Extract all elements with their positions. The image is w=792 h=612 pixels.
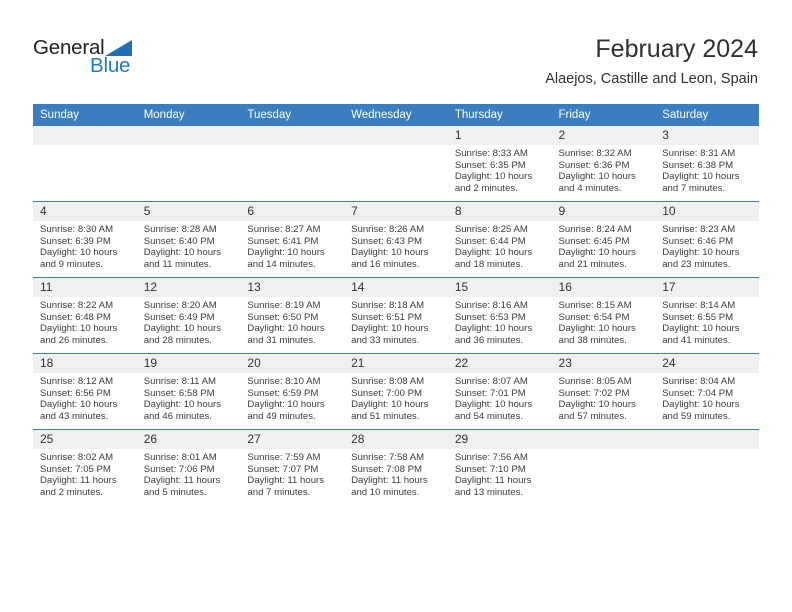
sunrise-text: Sunrise: 8:18 AM [351, 300, 442, 312]
daylight-text-line1: Daylight: 11 hours [455, 475, 546, 487]
day-number: 5 [137, 202, 241, 221]
day-number: 10 [655, 202, 759, 221]
daylight-text-line2: and 41 minutes. [662, 335, 753, 347]
sunrise-text: Sunrise: 8:07 AM [455, 376, 546, 388]
day-details: Sunrise: 8:24 AMSunset: 6:45 PMDaylight:… [552, 221, 656, 271]
sunrise-text: Sunrise: 8:16 AM [455, 300, 546, 312]
sunset-text: Sunset: 6:49 PM [144, 312, 235, 324]
daylight-text-line2: and 7 minutes. [662, 183, 753, 195]
daylight-text-line1: Daylight: 11 hours [40, 475, 131, 487]
daylight-text-line2: and 9 minutes. [40, 259, 131, 271]
calendar-day-cell[interactable]: 16Sunrise: 8:15 AMSunset: 6:54 PMDayligh… [552, 278, 656, 354]
calendar-day-cell[interactable]: 24Sunrise: 8:04 AMSunset: 7:04 PMDayligh… [655, 354, 759, 430]
day-number: 28 [344, 430, 448, 449]
calendar-day-cell[interactable]: 18Sunrise: 8:12 AMSunset: 6:56 PMDayligh… [33, 354, 137, 430]
sunset-text: Sunset: 7:05 PM [40, 464, 131, 476]
calendar-week-row: 18Sunrise: 8:12 AMSunset: 6:56 PMDayligh… [33, 354, 759, 430]
day-number [552, 430, 656, 449]
sunrise-text: Sunrise: 8:15 AM [559, 300, 650, 312]
calendar-day-cell[interactable]: 2Sunrise: 8:32 AMSunset: 6:36 PMDaylight… [552, 126, 656, 202]
daylight-text-line1: Daylight: 10 hours [247, 323, 338, 335]
sunrise-text: Sunrise: 8:08 AM [351, 376, 442, 388]
daylight-text-line2: and 43 minutes. [40, 411, 131, 423]
sunrise-text: Sunrise: 8:31 AM [662, 148, 753, 160]
day-number: 13 [240, 278, 344, 297]
daylight-text-line2: and 51 minutes. [351, 411, 442, 423]
calendar-day-cell[interactable]: 25Sunrise: 8:02 AMSunset: 7:05 PMDayligh… [33, 430, 137, 506]
daylight-text-line2: and 14 minutes. [247, 259, 338, 271]
sunset-text: Sunset: 7:00 PM [351, 388, 442, 400]
calendar-day-cell[interactable]: 23Sunrise: 8:05 AMSunset: 7:02 PMDayligh… [552, 354, 656, 430]
logo-text-blue: Blue [90, 54, 130, 78]
day-number: 19 [137, 354, 241, 373]
calendar-day-cell[interactable]: 3Sunrise: 8:31 AMSunset: 6:38 PMDaylight… [655, 126, 759, 202]
day-details: Sunrise: 8:20 AMSunset: 6:49 PMDaylight:… [137, 297, 241, 347]
calendar-day-cell[interactable] [344, 126, 448, 202]
daylight-text-line2: and 57 minutes. [559, 411, 650, 423]
weekday-header-monday: Monday [137, 104, 241, 126]
day-details: Sunrise: 8:15 AMSunset: 6:54 PMDaylight:… [552, 297, 656, 347]
calendar-day-cell[interactable]: 9Sunrise: 8:24 AMSunset: 6:45 PMDaylight… [552, 202, 656, 278]
day-details: Sunrise: 8:11 AMSunset: 6:58 PMDaylight:… [137, 373, 241, 423]
sunrise-text: Sunrise: 8:32 AM [559, 148, 650, 160]
day-number: 21 [344, 354, 448, 373]
calendar-day-cell[interactable]: 6Sunrise: 8:27 AMSunset: 6:41 PMDaylight… [240, 202, 344, 278]
day-number [33, 126, 137, 145]
sunrise-text: Sunrise: 8:14 AM [662, 300, 753, 312]
day-details: Sunrise: 8:18 AMSunset: 6:51 PMDaylight:… [344, 297, 448, 347]
sunset-text: Sunset: 6:46 PM [662, 236, 753, 248]
daylight-text-line2: and 11 minutes. [144, 259, 235, 271]
daylight-text-line1: Daylight: 10 hours [559, 171, 650, 183]
sunrise-text: Sunrise: 8:04 AM [662, 376, 753, 388]
day-number: 2 [552, 126, 656, 145]
general-blue-logo[interactable]: General Blue [33, 36, 173, 82]
day-details [552, 449, 656, 452]
calendar-day-cell[interactable]: 29Sunrise: 7:56 AMSunset: 7:10 PMDayligh… [448, 430, 552, 506]
daylight-text-line1: Daylight: 10 hours [559, 247, 650, 259]
sunrise-text: Sunrise: 8:05 AM [559, 376, 650, 388]
sunrise-text: Sunrise: 8:23 AM [662, 224, 753, 236]
day-number: 7 [344, 202, 448, 221]
calendar-body: 1Sunrise: 8:33 AMSunset: 6:35 PMDaylight… [33, 126, 759, 505]
calendar-week-row: 4Sunrise: 8:30 AMSunset: 6:39 PMDaylight… [33, 202, 759, 278]
calendar-day-cell[interactable]: 7Sunrise: 8:26 AMSunset: 6:43 PMDaylight… [344, 202, 448, 278]
sunset-text: Sunset: 7:06 PM [144, 464, 235, 476]
day-details: Sunrise: 8:14 AMSunset: 6:55 PMDaylight:… [655, 297, 759, 347]
daylight-text-line1: Daylight: 10 hours [144, 247, 235, 259]
daylight-text-line1: Daylight: 10 hours [559, 399, 650, 411]
sunrise-text: Sunrise: 7:58 AM [351, 452, 442, 464]
daylight-text-line1: Daylight: 11 hours [351, 475, 442, 487]
calendar-page: General Blue February 2024 Alaejos, Cast… [0, 0, 792, 612]
day-details [655, 449, 759, 452]
day-details: Sunrise: 8:16 AMSunset: 6:53 PMDaylight:… [448, 297, 552, 347]
calendar-day-cell[interactable]: 15Sunrise: 8:16 AMSunset: 6:53 PMDayligh… [448, 278, 552, 354]
calendar-day-cell[interactable]: 14Sunrise: 8:18 AMSunset: 6:51 PMDayligh… [344, 278, 448, 354]
calendar-day-cell[interactable]: 17Sunrise: 8:14 AMSunset: 6:55 PMDayligh… [655, 278, 759, 354]
daylight-text-line1: Daylight: 10 hours [455, 171, 546, 183]
day-number: 25 [33, 430, 137, 449]
daylight-text-line1: Daylight: 10 hours [662, 399, 753, 411]
daylight-text-line1: Daylight: 11 hours [247, 475, 338, 487]
daylight-text-line2: and 23 minutes. [662, 259, 753, 271]
sunrise-text: Sunrise: 8:11 AM [144, 376, 235, 388]
sunrise-text: Sunrise: 8:26 AM [351, 224, 442, 236]
daylight-text-line2: and 10 minutes. [351, 487, 442, 499]
day-number [344, 126, 448, 145]
daylight-text-line2: and 28 minutes. [144, 335, 235, 347]
day-details: Sunrise: 8:07 AMSunset: 7:01 PMDaylight:… [448, 373, 552, 423]
sunset-text: Sunset: 6:41 PM [247, 236, 338, 248]
daylight-text-line2: and 26 minutes. [40, 335, 131, 347]
day-details [33, 145, 137, 148]
day-details: Sunrise: 8:19 AMSunset: 6:50 PMDaylight:… [240, 297, 344, 347]
day-details: Sunrise: 8:33 AMSunset: 6:35 PMDaylight:… [448, 145, 552, 195]
daylight-text-line2: and 5 minutes. [144, 487, 235, 499]
sunrise-text: Sunrise: 8:30 AM [40, 224, 131, 236]
daylight-text-line1: Daylight: 10 hours [40, 323, 131, 335]
sunrise-text: Sunrise: 7:59 AM [247, 452, 338, 464]
calendar-day-cell[interactable] [137, 126, 241, 202]
calendar-day-cell[interactable]: 5Sunrise: 8:28 AMSunset: 6:40 PMDaylight… [137, 202, 241, 278]
day-number: 23 [552, 354, 656, 373]
calendar-day-cell[interactable]: 10Sunrise: 8:23 AMSunset: 6:46 PMDayligh… [655, 202, 759, 278]
calendar-day-cell[interactable]: 12Sunrise: 8:20 AMSunset: 6:49 PMDayligh… [137, 278, 241, 354]
daylight-text-line1: Daylight: 10 hours [559, 323, 650, 335]
weekday-header-sunday: Sunday [33, 104, 137, 126]
sunrise-text: Sunrise: 8:25 AM [455, 224, 546, 236]
calendar-day-cell[interactable]: 26Sunrise: 8:01 AMSunset: 7:06 PMDayligh… [137, 430, 241, 506]
sunrise-text: Sunrise: 8:10 AM [247, 376, 338, 388]
calendar-day-cell[interactable]: 27Sunrise: 7:59 AMSunset: 7:07 PMDayligh… [240, 430, 344, 506]
daylight-text-line1: Daylight: 10 hours [351, 399, 442, 411]
daylight-text-line1: Daylight: 10 hours [40, 399, 131, 411]
daylight-text-line1: Daylight: 10 hours [351, 247, 442, 259]
daylight-text-line2: and 59 minutes. [662, 411, 753, 423]
weekday-header-tuesday: Tuesday [240, 104, 344, 126]
day-number [240, 126, 344, 145]
calendar-week-row: 1Sunrise: 8:33 AMSunset: 6:35 PMDaylight… [33, 126, 759, 202]
day-details: Sunrise: 8:25 AMSunset: 6:44 PMDaylight:… [448, 221, 552, 271]
title-block: February 2024 Alaejos, Castille and Leon… [545, 34, 758, 89]
sunset-text: Sunset: 7:10 PM [455, 464, 546, 476]
sunset-text: Sunset: 6:38 PM [662, 160, 753, 172]
calendar-day-cell[interactable]: 4Sunrise: 8:30 AMSunset: 6:39 PMDaylight… [33, 202, 137, 278]
sunset-text: Sunset: 7:02 PM [559, 388, 650, 400]
day-details: Sunrise: 8:02 AMSunset: 7:05 PMDaylight:… [33, 449, 137, 499]
calendar-table: Sunday Monday Tuesday Wednesday Thursday… [33, 104, 759, 505]
day-details: Sunrise: 8:23 AMSunset: 6:46 PMDaylight:… [655, 221, 759, 271]
daylight-text-line2: and 2 minutes. [455, 183, 546, 195]
daylight-text-line2: and 38 minutes. [559, 335, 650, 347]
day-details: Sunrise: 7:59 AMSunset: 7:07 PMDaylight:… [240, 449, 344, 499]
calendar-week-row: 11Sunrise: 8:22 AMSunset: 6:48 PMDayligh… [33, 278, 759, 354]
daylight-text-line2: and 33 minutes. [351, 335, 442, 347]
day-details: Sunrise: 8:26 AMSunset: 6:43 PMDaylight:… [344, 221, 448, 271]
calendar-day-cell[interactable]: 22Sunrise: 8:07 AMSunset: 7:01 PMDayligh… [448, 354, 552, 430]
daylight-text-line1: Daylight: 10 hours [662, 247, 753, 259]
day-number [655, 430, 759, 449]
sunset-text: Sunset: 7:04 PM [662, 388, 753, 400]
sunrise-text: Sunrise: 8:28 AM [144, 224, 235, 236]
sunrise-text: Sunrise: 8:24 AM [559, 224, 650, 236]
calendar-day-cell[interactable] [33, 126, 137, 202]
weekday-header-wednesday: Wednesday [344, 104, 448, 126]
daylight-text-line2: and 18 minutes. [455, 259, 546, 271]
day-number: 22 [448, 354, 552, 373]
calendar-header-row: Sunday Monday Tuesday Wednesday Thursday… [33, 104, 759, 126]
sunrise-text: Sunrise: 7:56 AM [455, 452, 546, 464]
daylight-text-line2: and 7 minutes. [247, 487, 338, 499]
daylight-text-line2: and 21 minutes. [559, 259, 650, 271]
day-number: 15 [448, 278, 552, 297]
sunset-text: Sunset: 6:58 PM [144, 388, 235, 400]
day-details: Sunrise: 8:05 AMSunset: 7:02 PMDaylight:… [552, 373, 656, 423]
sunset-text: Sunset: 6:40 PM [144, 236, 235, 248]
daylight-text-line1: Daylight: 10 hours [144, 399, 235, 411]
day-number: 24 [655, 354, 759, 373]
day-details: Sunrise: 8:04 AMSunset: 7:04 PMDaylight:… [655, 373, 759, 423]
day-details: Sunrise: 7:56 AMSunset: 7:10 PMDaylight:… [448, 449, 552, 499]
sunrise-text: Sunrise: 8:27 AM [247, 224, 338, 236]
sunset-text: Sunset: 6:36 PM [559, 160, 650, 172]
sunset-text: Sunset: 6:44 PM [455, 236, 546, 248]
day-details: Sunrise: 8:32 AMSunset: 6:36 PMDaylight:… [552, 145, 656, 195]
day-number: 12 [137, 278, 241, 297]
calendar-day-cell[interactable] [655, 430, 759, 506]
day-details [344, 145, 448, 148]
sunset-text: Sunset: 6:54 PM [559, 312, 650, 324]
day-number: 16 [552, 278, 656, 297]
weekday-header-saturday: Saturday [655, 104, 759, 126]
day-details: Sunrise: 8:27 AMSunset: 6:41 PMDaylight:… [240, 221, 344, 271]
day-details: Sunrise: 7:58 AMSunset: 7:08 PMDaylight:… [344, 449, 448, 499]
day-number: 29 [448, 430, 552, 449]
sunset-text: Sunset: 6:45 PM [559, 236, 650, 248]
day-number [137, 126, 241, 145]
calendar-day-cell[interactable]: 1Sunrise: 8:33 AMSunset: 6:35 PMDaylight… [448, 126, 552, 202]
day-details: Sunrise: 8:22 AMSunset: 6:48 PMDaylight:… [33, 297, 137, 347]
calendar-day-cell[interactable]: 20Sunrise: 8:10 AMSunset: 6:59 PMDayligh… [240, 354, 344, 430]
daylight-text-line1: Daylight: 10 hours [455, 399, 546, 411]
sunset-text: Sunset: 6:43 PM [351, 236, 442, 248]
daylight-text-line1: Daylight: 10 hours [351, 323, 442, 335]
sunrise-text: Sunrise: 8:20 AM [144, 300, 235, 312]
sunrise-text: Sunrise: 8:22 AM [40, 300, 131, 312]
daylight-text-line1: Daylight: 10 hours [247, 399, 338, 411]
calendar-day-cell[interactable]: 19Sunrise: 8:11 AMSunset: 6:58 PMDayligh… [137, 354, 241, 430]
sunrise-text: Sunrise: 8:01 AM [144, 452, 235, 464]
page-title: February 2024 [545, 34, 758, 64]
sunset-text: Sunset: 6:53 PM [455, 312, 546, 324]
day-details: Sunrise: 8:08 AMSunset: 7:00 PMDaylight:… [344, 373, 448, 423]
calendar-day-cell[interactable]: 21Sunrise: 8:08 AMSunset: 7:00 PMDayligh… [344, 354, 448, 430]
page-subtitle-location: Alaejos, Castille and Leon, Spain [545, 69, 758, 89]
sunset-text: Sunset: 6:39 PM [40, 236, 131, 248]
day-number: 4 [33, 202, 137, 221]
sunset-text: Sunset: 7:01 PM [455, 388, 546, 400]
day-number: 1 [448, 126, 552, 145]
calendar-day-cell[interactable]: 11Sunrise: 8:22 AMSunset: 6:48 PMDayligh… [33, 278, 137, 354]
day-details [137, 145, 241, 148]
daylight-text-line2: and 31 minutes. [247, 335, 338, 347]
day-number: 17 [655, 278, 759, 297]
day-details: Sunrise: 8:10 AMSunset: 6:59 PMDaylight:… [240, 373, 344, 423]
daylight-text-line1: Daylight: 10 hours [455, 247, 546, 259]
daylight-text-line2: and 36 minutes. [455, 335, 546, 347]
day-number: 3 [655, 126, 759, 145]
day-number: 6 [240, 202, 344, 221]
daylight-text-line1: Daylight: 11 hours [144, 475, 235, 487]
day-details: Sunrise: 8:12 AMSunset: 6:56 PMDaylight:… [33, 373, 137, 423]
day-details: Sunrise: 8:30 AMSunset: 6:39 PMDaylight:… [33, 221, 137, 271]
calendar-day-cell[interactable] [552, 430, 656, 506]
daylight-text-line2: and 4 minutes. [559, 183, 650, 195]
daylight-text-line2: and 13 minutes. [455, 487, 546, 499]
daylight-text-line1: Daylight: 10 hours [455, 323, 546, 335]
day-number: 14 [344, 278, 448, 297]
page-header: General Blue February 2024 Alaejos, Cast… [0, 0, 792, 100]
day-number: 27 [240, 430, 344, 449]
calendar-day-cell[interactable]: 28Sunrise: 7:58 AMSunset: 7:08 PMDayligh… [344, 430, 448, 506]
daylight-text-line1: Daylight: 10 hours [662, 171, 753, 183]
day-number: 9 [552, 202, 656, 221]
sunrise-text: Sunrise: 8:02 AM [40, 452, 131, 464]
day-details: Sunrise: 8:28 AMSunset: 6:40 PMDaylight:… [137, 221, 241, 271]
sunset-text: Sunset: 7:07 PM [247, 464, 338, 476]
sunset-text: Sunset: 6:50 PM [247, 312, 338, 324]
sunset-text: Sunset: 7:08 PM [351, 464, 442, 476]
calendar-day-cell[interactable] [240, 126, 344, 202]
sunrise-text: Sunrise: 8:12 AM [40, 376, 131, 388]
day-details [240, 145, 344, 148]
daylight-text-line1: Daylight: 10 hours [144, 323, 235, 335]
daylight-text-line2: and 2 minutes. [40, 487, 131, 499]
day-number: 18 [33, 354, 137, 373]
daylight-text-line2: and 49 minutes. [247, 411, 338, 423]
day-number: 11 [33, 278, 137, 297]
calendar-week-row: 25Sunrise: 8:02 AMSunset: 7:05 PMDayligh… [33, 430, 759, 506]
day-details: Sunrise: 8:31 AMSunset: 6:38 PMDaylight:… [655, 145, 759, 195]
day-number: 26 [137, 430, 241, 449]
daylight-text-line2: and 54 minutes. [455, 411, 546, 423]
daylight-text-line2: and 46 minutes. [144, 411, 235, 423]
sunset-text: Sunset: 6:55 PM [662, 312, 753, 324]
weekday-header-thursday: Thursday [448, 104, 552, 126]
sunset-text: Sunset: 6:51 PM [351, 312, 442, 324]
daylight-text-line2: and 16 minutes. [351, 259, 442, 271]
day-details: Sunrise: 8:01 AMSunset: 7:06 PMDaylight:… [137, 449, 241, 499]
calendar-day-cell[interactable]: 13Sunrise: 8:19 AMSunset: 6:50 PMDayligh… [240, 278, 344, 354]
sunset-text: Sunset: 6:48 PM [40, 312, 131, 324]
daylight-text-line1: Daylight: 10 hours [247, 247, 338, 259]
weekday-header-friday: Friday [552, 104, 656, 126]
sunrise-text: Sunrise: 8:19 AM [247, 300, 338, 312]
daylight-text-line1: Daylight: 10 hours [40, 247, 131, 259]
sunset-text: Sunset: 6:56 PM [40, 388, 131, 400]
sunset-text: Sunset: 6:35 PM [455, 160, 546, 172]
day-number: 8 [448, 202, 552, 221]
sunset-text: Sunset: 6:59 PM [247, 388, 338, 400]
sunrise-text: Sunrise: 8:33 AM [455, 148, 546, 160]
calendar-day-cell[interactable]: 8Sunrise: 8:25 AMSunset: 6:44 PMDaylight… [448, 202, 552, 278]
day-number: 20 [240, 354, 344, 373]
daylight-text-line1: Daylight: 10 hours [662, 323, 753, 335]
